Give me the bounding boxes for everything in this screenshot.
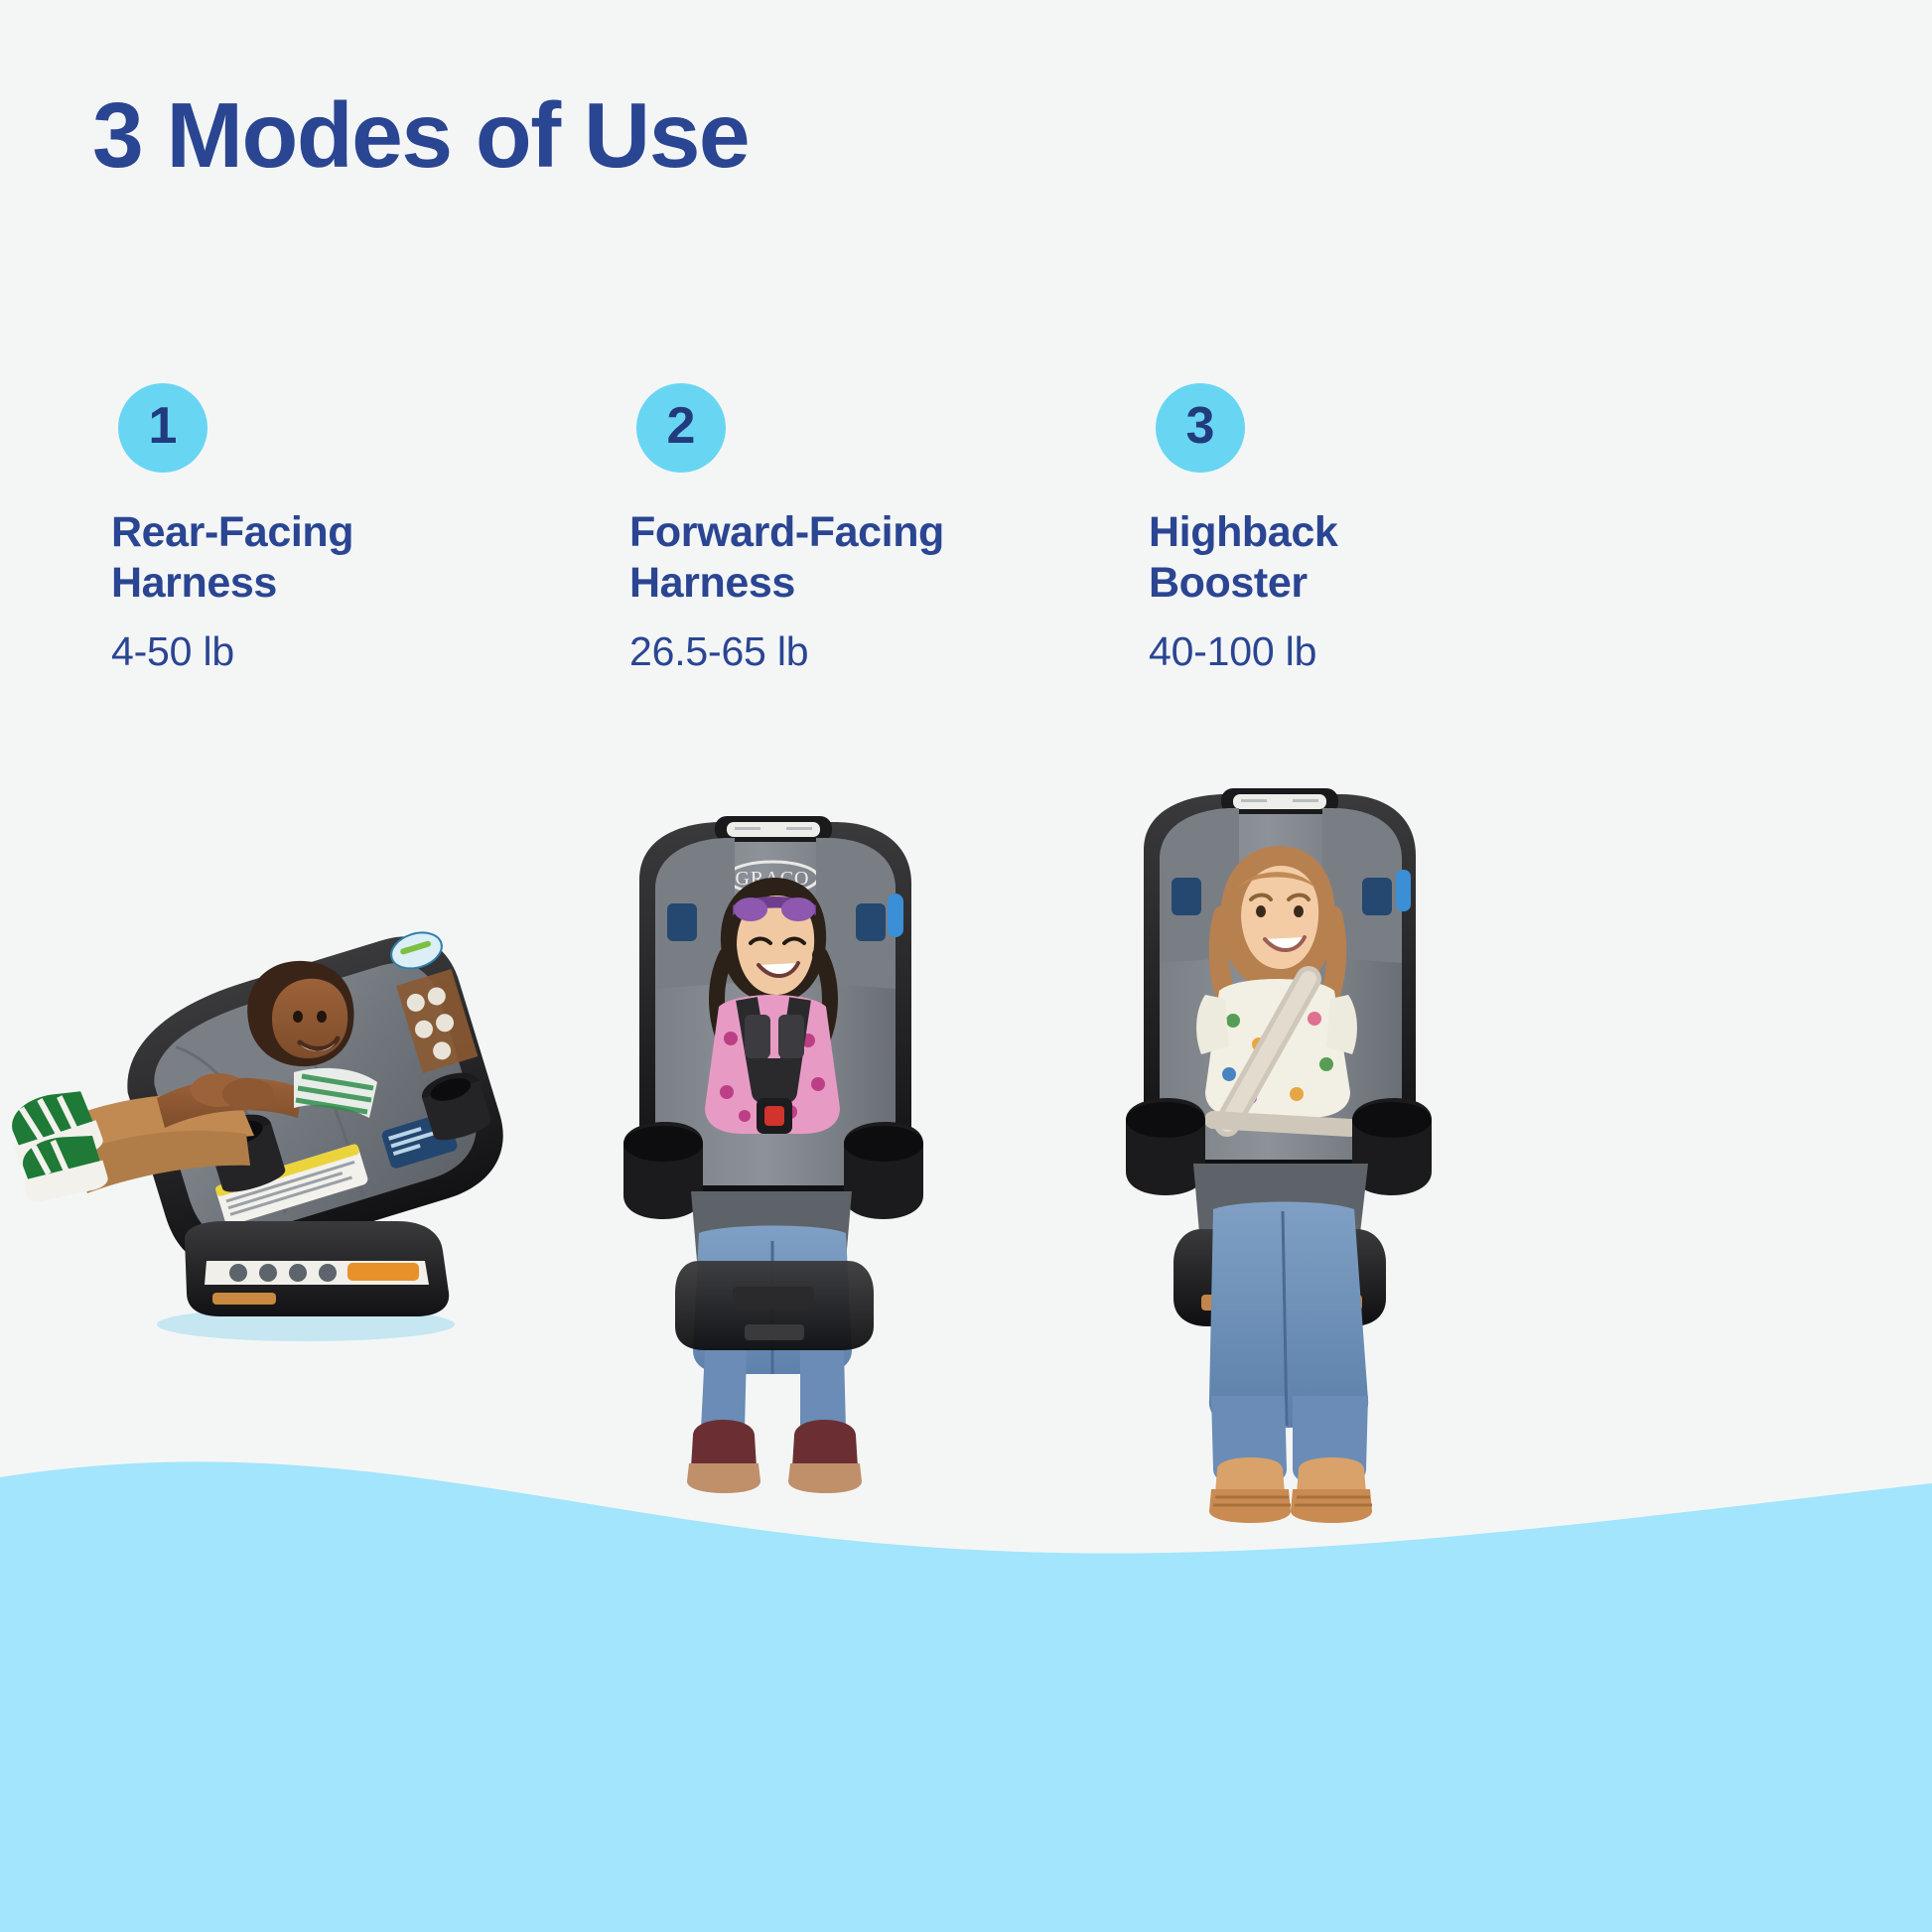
photo-highback-booster — [1102, 774, 1459, 1529]
mode-name-1: Rear-Facing Harness — [111, 507, 538, 608]
modes-row: 1 Rear-Facing Harness 4-50 lb 2 Forward-… — [0, 0, 1932, 695]
mode-badge-1: 1 — [118, 383, 207, 473]
mode-badge-3: 3 — [1156, 383, 1245, 473]
mode-badge-number-3: 3 — [1186, 400, 1215, 452]
infographic-canvas: 3 Modes of Use — [0, 0, 1932, 1932]
mode-column-3: 3 Highback Booster 40-100 lb — [1149, 383, 1576, 675]
mode-column-2: 2 Forward-Facing Harness 26.5-65 lb — [629, 383, 1056, 675]
photo-forward-facing-harness: GRACO — [596, 794, 953, 1509]
mode-weight-2: 26.5-65 lb — [629, 629, 1056, 674]
mode-weight-1: 4-50 lb — [111, 629, 538, 674]
mode-name-2: Forward-Facing Harness — [629, 507, 1056, 608]
mode-column-1: 1 Rear-Facing Harness 4-50 lb — [111, 383, 538, 675]
mode-badge-2: 2 — [636, 383, 726, 473]
mode-name-3: Highback Booster — [1149, 507, 1576, 608]
photo-rear-facing-harness — [8, 923, 623, 1350]
mode-badge-number-2: 2 — [667, 400, 696, 452]
mode-badge-number-1: 1 — [149, 400, 178, 452]
mode-weight-3: 40-100 lb — [1149, 629, 1576, 674]
